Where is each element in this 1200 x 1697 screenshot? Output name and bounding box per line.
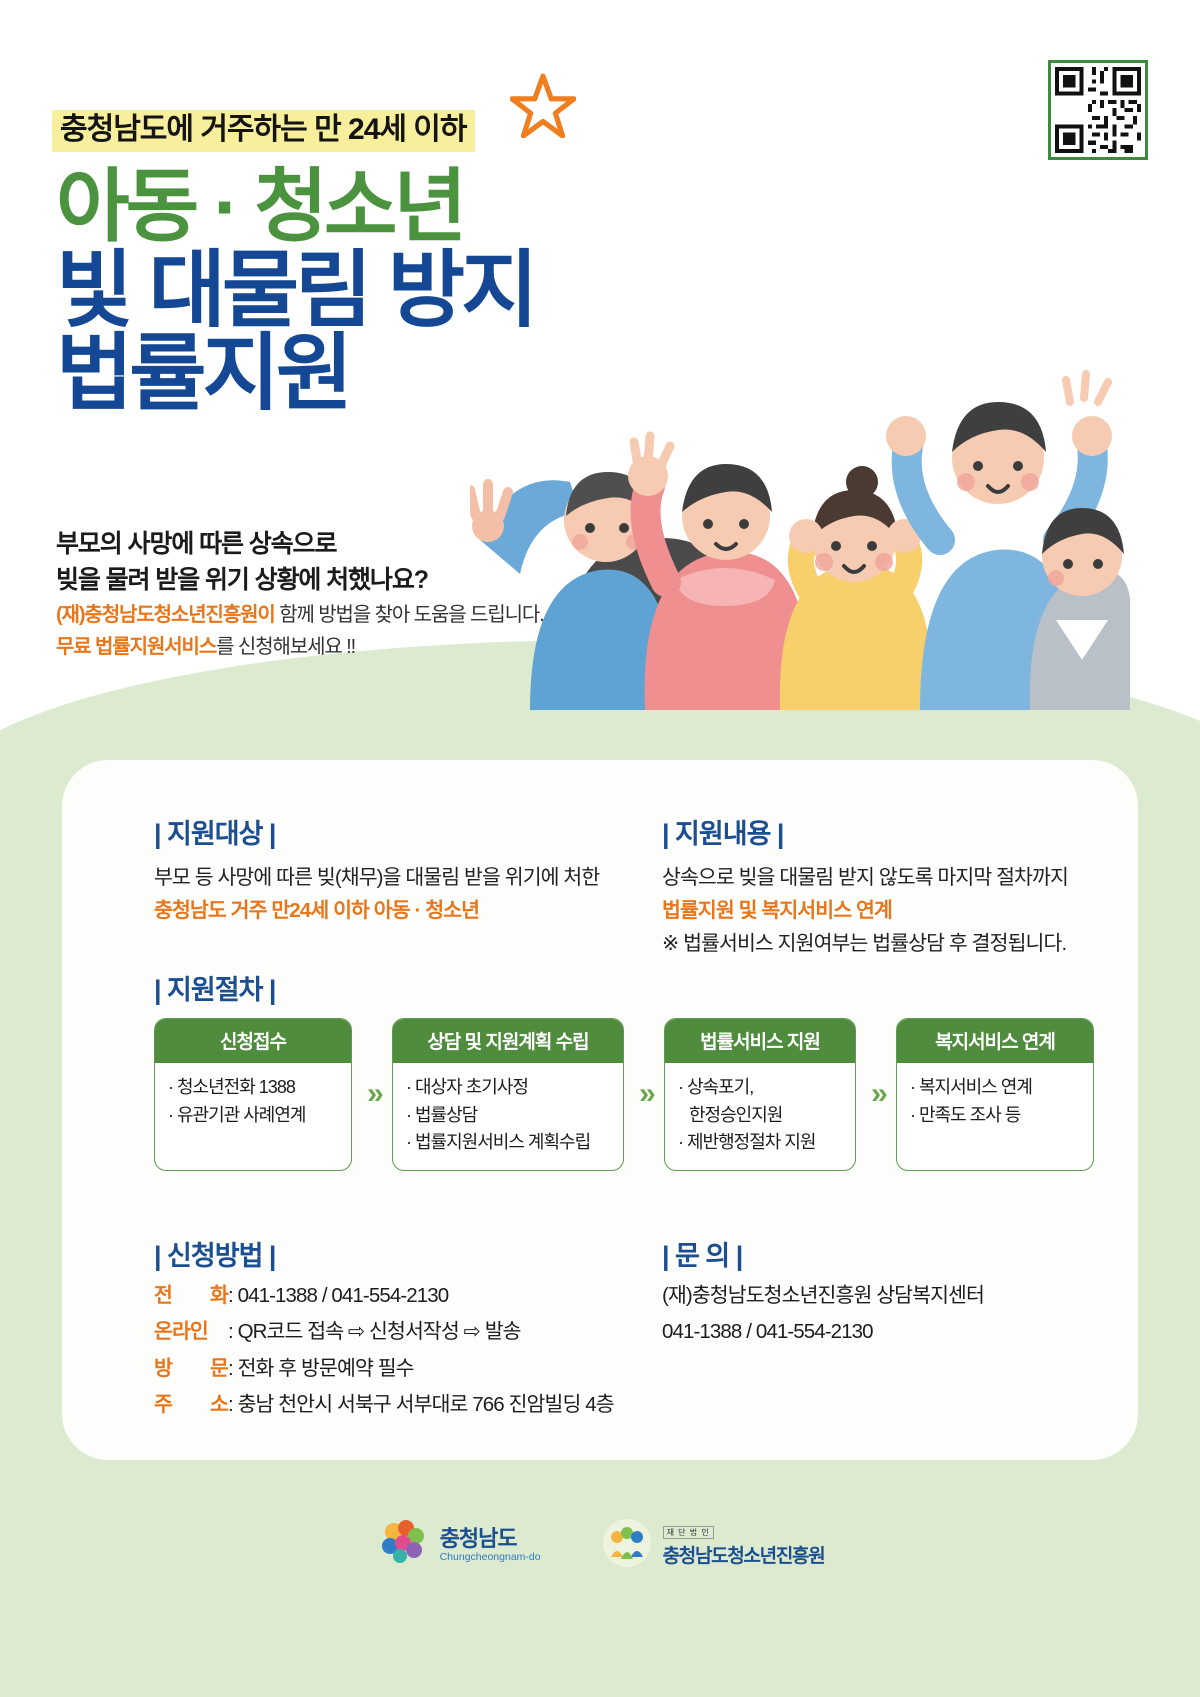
- apply-row-visit-key-b: 문: [210, 1351, 228, 1387]
- apply-row-online: 온라인 : QR코드 접속 ⇨ 신청서작성 ⇨ 발송: [154, 1314, 654, 1350]
- apply-row-address-value: : 충남 천안시 서북구 서부대로 766 진암빌딩 4층: [228, 1387, 614, 1423]
- apply-row-address-key-b: 소: [210, 1387, 228, 1423]
- title-line-3: 법률지원: [56, 333, 534, 414]
- procedure-step-3-body: · 상속포기, 한정승인지원 · 제반행정절차 지원: [665, 1063, 855, 1170]
- info-card: | 지원대상 | 부모 등 사망에 따른 빚(채무)을 대물림 받을 위기에 처…: [62, 760, 1138, 1460]
- lead-line-1: 부모의 사망에 따른 상속으로: [56, 527, 544, 563]
- procedure-step-3-item-1: · 상속포기,: [678, 1075, 842, 1101]
- lead-line-4-highlight: 무료 법률지원서비스: [56, 636, 216, 658]
- logo-youth-foundation: 재 단 법 인 충청남도청소년진흥원: [601, 1517, 825, 1574]
- lead-line-3-rest: 함께 방법을 찾아 도움을 드립니다.: [275, 604, 544, 626]
- apply-row-phone-key-a: 전: [154, 1278, 172, 1314]
- lead-line-2: 빚을 물려 받을 위기 상황에 처했나요?: [56, 563, 544, 599]
- apply-row-visit-key: 방 문: [154, 1351, 228, 1387]
- lead-line-4: 무료 법률지원서비스를 신청해보세요 !!: [56, 632, 544, 662]
- poster: 충청남도에 거주하는 만 24세 이하 아동 · 청소년 빛 대물림 방지 법률…: [0, 0, 1200, 1697]
- eyebrow-text: 충청남도에 거주하는 만 24세 이하: [52, 110, 475, 152]
- support-content-line-2: 법률지원 및 복지서비스 연계: [662, 894, 1132, 927]
- procedure-step-4-head: 복지서비스 연계: [897, 1019, 1093, 1063]
- procedure-step-3-item-3: · 제반행정절차 지원: [678, 1130, 842, 1156]
- support-content-title: | 지원내용 |: [662, 812, 1132, 851]
- logo-chungcheongnam-do: 충청남도 Chungcheongnam-do: [376, 1516, 541, 1575]
- lead-line-3-highlight: (재)충청남도청소년진흥원이: [56, 604, 275, 626]
- procedure-title: | 지원절차 |: [154, 968, 275, 1007]
- apply-row-visit-value: : 전화 후 방문예약 필수: [228, 1351, 414, 1387]
- apply-row-visit: 방 문 : 전화 후 방문예약 필수: [154, 1351, 654, 1387]
- apply-row-address-key: 주 소: [154, 1387, 228, 1423]
- procedure-step-1-body: · 청소년전화 1388 · 유관기관 사례연계: [155, 1063, 351, 1170]
- procedure-step-2: 상담 및 지원계획 수립 · 대상자 초기사정 · 법률상담 · 법률지원서비스…: [392, 1018, 624, 1171]
- inquiry-title: | 문 의 |: [662, 1234, 742, 1273]
- procedure-step-4-body: · 복지서비스 연계 · 만족도 조사 등: [897, 1063, 1093, 1170]
- title-line-2: 빛 대물림 방지: [56, 250, 534, 331]
- apply-row-online-value: : QR코드 접속 ⇨ 신청서작성 ⇨ 발송: [228, 1314, 521, 1350]
- apply-title: | 신청방법 |: [154, 1234, 275, 1273]
- logo2-ko: 충청남도청소년진흥원: [663, 1541, 825, 1568]
- procedure-step-4-item-2: · 만족도 조사 등: [910, 1103, 1080, 1129]
- logo1-en: Chungcheongnam-do: [440, 1551, 541, 1563]
- support-target-title: | 지원대상 |: [154, 812, 624, 851]
- support-target-line-2: 충청남도 거주 만24세 이하 아동 · 청소년: [154, 894, 624, 927]
- procedure-step-4: 복지서비스 연계 · 복지서비스 연계 · 만족도 조사 등: [896, 1018, 1094, 1171]
- double-chevron-right-icon-2: »: [624, 1018, 664, 1171]
- inquiry-line-2: 041-1388 / 041-554-2130: [662, 1314, 1132, 1350]
- apply-row-phone-key-b: 화: [210, 1278, 228, 1314]
- procedure-step-4-item-1: · 복지서비스 연계: [910, 1075, 1080, 1101]
- apply-row-visit-key-a: 방: [154, 1351, 172, 1387]
- people-logo-icon: [601, 1517, 653, 1574]
- inquiry-section: (재)충청남도청소년진흥원 상담복지센터 041-1388 / 041-554-…: [662, 1278, 1132, 1351]
- procedure-step-2-body: · 대상자 초기사정 · 법률상담 · 법률지원서비스 계획수립: [393, 1063, 623, 1170]
- footer-logos: 충청남도 Chungcheongnam-do 재 단 법 인 충청남도청소년진흥…: [0, 1490, 1200, 1600]
- apply-row-online-key-a: 온라인: [154, 1314, 208, 1350]
- support-content-note: ※ 법률서비스 지원여부는 법률상담 후 결정됩니다.: [662, 927, 1132, 960]
- apply-row-phone: 전 화 : 041-1388 / 041-554-2130: [154, 1278, 654, 1314]
- procedure-step-2-head: 상담 및 지원계획 수립: [393, 1019, 623, 1063]
- title-line-1: 아동 · 청소년: [56, 168, 534, 246]
- procedure-step-2-item-3: · 법률지원서비스 계획수립: [406, 1130, 610, 1156]
- logo-chungcheongnam-do-text: 충청남도 Chungcheongnam-do: [440, 1527, 541, 1562]
- double-chevron-right-icon: »: [352, 1018, 392, 1171]
- apply-row-address-key-a: 주: [154, 1387, 172, 1423]
- procedure-flow: 신청접수 · 청소년전화 1388 · 유관기관 사례연계 » 상담 및 지원계…: [154, 1018, 1094, 1171]
- lead-copy: 부모의 사망에 따른 상속으로 빚을 물려 받을 위기 상황에 처했나요? (재…: [56, 527, 544, 662]
- logo1-ko: 충청남도: [440, 1527, 541, 1550]
- logo-youth-foundation-text: 재 단 법 인 충청남도청소년진흥원: [663, 1522, 825, 1568]
- qr-code-icon[interactable]: [1048, 60, 1148, 160]
- apply-section: 전 화 : 041-1388 / 041-554-2130 온라인 : QR코드…: [154, 1278, 654, 1424]
- apply-row-address: 주 소 : 충남 천안시 서북구 서부대로 766 진암빌딩 4층: [154, 1387, 654, 1423]
- procedure-step-3-item-2: 한정승인지원: [678, 1103, 842, 1129]
- procedure-step-3: 법률서비스 지원 · 상속포기, 한정승인지원 · 제반행정절차 지원: [664, 1018, 856, 1171]
- inquiry-line-1: (재)충청남도청소년진흥원 상담복지센터: [662, 1278, 1132, 1314]
- illustration-cheering-people: [470, 290, 1130, 710]
- support-target-section: | 지원대상 | 부모 등 사망에 따른 빚(채무)을 대물림 받을 위기에 처…: [154, 812, 624, 927]
- support-content-section: | 지원내용 | 상속으로 빚을 대물림 받지 않도록 마지막 절차까지 법률지…: [662, 812, 1132, 961]
- double-chevron-right-icon-3: »: [856, 1018, 896, 1171]
- lead-line-3: (재)충청남도청소년진흥원이 함께 방법을 찾아 도움을 드립니다.: [56, 600, 544, 630]
- page-title: 아동 · 청소년 빛 대물림 방지 법률지원: [56, 168, 534, 415]
- support-target-line-1: 부모 등 사망에 따른 빚(채무)을 대물림 받을 위기에 처한: [154, 861, 624, 894]
- procedure-step-1-head: 신청접수: [155, 1019, 351, 1063]
- procedure-step-1: 신청접수 · 청소년전화 1388 · 유관기관 사례연계: [154, 1018, 352, 1171]
- flower-logo-icon: [376, 1516, 430, 1575]
- apply-row-phone-key: 전 화: [154, 1278, 228, 1314]
- lead-line-4-rest: 를 신청해보세요 !!: [216, 636, 355, 658]
- support-content-line-1: 상속으로 빚을 대물림 받지 않도록 마지막 절차까지: [662, 861, 1132, 894]
- procedure-step-1-item-1: · 청소년전화 1388: [168, 1075, 338, 1101]
- procedure-step-1-item-2: · 유관기관 사례연계: [168, 1103, 338, 1129]
- procedure-step-2-item-1: · 대상자 초기사정: [406, 1075, 610, 1101]
- apply-row-online-key: 온라인: [154, 1314, 228, 1350]
- procedure-step-3-head: 법률서비스 지원: [665, 1019, 855, 1063]
- apply-row-phone-value: : 041-1388 / 041-554-2130: [228, 1278, 448, 1314]
- logo2-caption: 재 단 법 인: [663, 1526, 714, 1539]
- star-icon: [510, 72, 576, 138]
- procedure-step-2-item-2: · 법률상담: [406, 1103, 610, 1129]
